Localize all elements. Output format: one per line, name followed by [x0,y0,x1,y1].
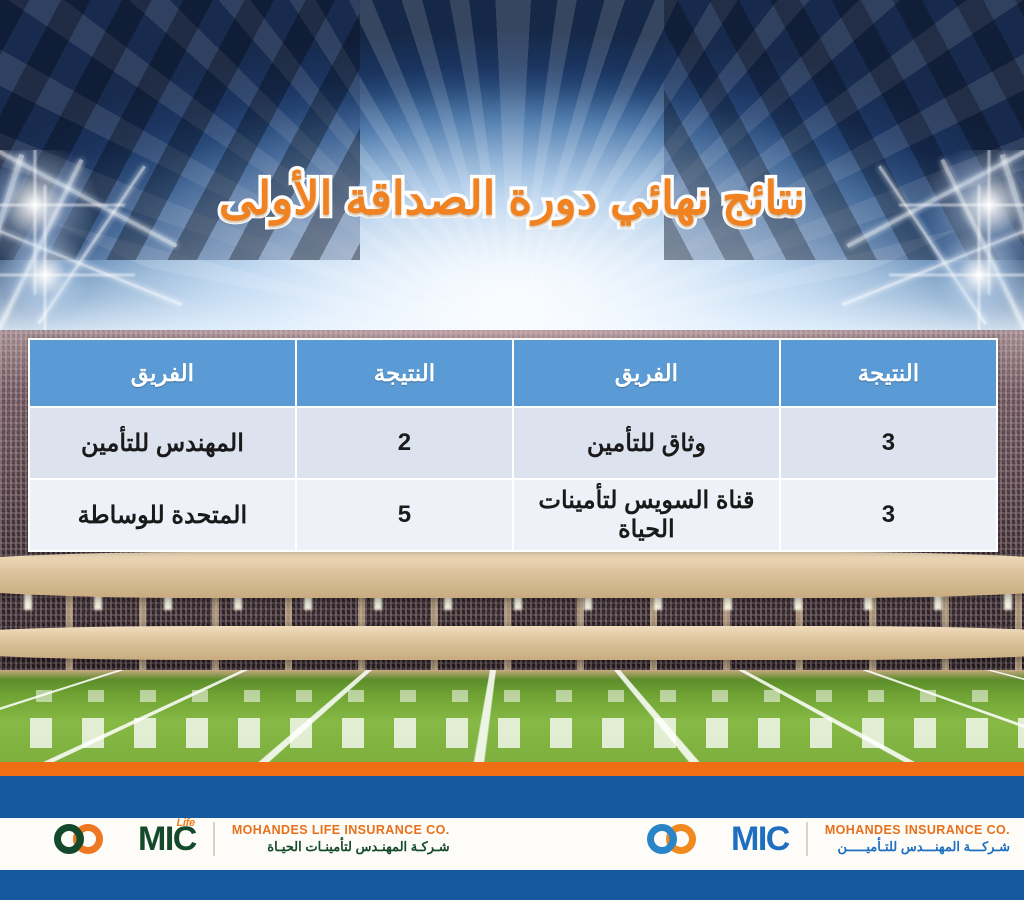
logo-mohandes-life[interactable]: MIC Life MOHANDES LIFE INSURANCE CO. شـر… [52,822,450,856]
logo-text-block: MOHANDES INSURANCE CO. شـركـــة المهنـــ… [825,823,1010,855]
cell-team-right: وثاق للتأمين [514,408,779,478]
cell-team-right: قناة السويس لتأمينات الحياة [514,480,779,550]
mic-life-mark: MIC Life [52,822,196,856]
table-header: النتيجة الفريق النتيجة الفريق [30,340,996,406]
footer-blue-band-bottom [0,870,1024,900]
floodlight-flare-left-2 [0,230,90,320]
poster-canvas: نتائج نهائي دورة الصداقة الأولى النتيجة … [0,0,1024,900]
column-header-team-left: الفريق [30,340,295,406]
cell-score-right: 3 [781,408,996,478]
footer-orange-stripe [0,762,1024,776]
mic-mark: MIC [645,822,789,856]
field-hash-marks-upper [0,690,1024,702]
cell-score-right: 3 [781,480,996,550]
company-name-en: MOHANDES LIFE INSURANCE CO. [232,823,450,839]
cell-team-left: المتحدة للوساطة [30,480,295,550]
sky-background [0,0,1024,330]
cell-score-left: 5 [297,480,512,550]
cell-score-left: 2 [297,408,512,478]
field-hash-marks-lower [0,718,1024,748]
stadium-rail-upper [0,552,1024,598]
column-header-score-left: النتيجة [297,340,512,406]
logo-mohandes-insurance[interactable]: MIC MOHANDES INSURANCE CO. شـركـــة المه… [645,822,1010,856]
table-header-row: النتيجة الفريق النتيجة الفريق [30,340,996,406]
footer-blue-band-top [0,776,1024,818]
company-name-ar: شـركـــة المهنـــدس للتـأميـــــن [825,839,1010,855]
column-header-score-right: النتيجة [781,340,996,406]
stadium-rail-lower [0,626,1024,660]
infinity-rings-icon [645,822,731,856]
table-body: 3 وثاق للتأمين 2 المهندس للتأمين 3 قناة … [30,408,996,550]
logo-text-block: MOHANDES LIFE INSURANCE CO. شـركـة المهن… [232,823,450,855]
logo-divider [806,822,808,856]
results-table: النتيجة الفريق النتيجة الفريق 3 وثاق للت… [28,338,998,552]
company-name-en: MOHANDES INSURANCE CO. [825,823,1010,839]
table-row: 3 وثاق للتأمين 2 المهندس للتأمين [30,408,996,478]
footer-logo-strip: MIC Life MOHANDES LIFE INSURANCE CO. شـر… [0,818,1024,870]
page-title: نتائج نهائي دورة الصداقة الأولى [0,170,1024,228]
mic-wordmark: MIC [731,822,789,856]
table-row: 3 قناة السويس لتأمينات الحياة 5 المتحدة … [30,480,996,550]
floodlight-flare-right-2 [934,230,1024,320]
life-superscript: Life [176,817,194,829]
logo-divider [213,822,215,856]
column-header-team-right: الفريق [514,340,779,406]
company-name-ar: شـركـة المهنـدس لتأمينـات الحيـاة [232,839,450,855]
infinity-rings-icon [52,822,138,856]
football-field [0,670,1024,765]
cell-team-left: المهندس للتأمين [30,408,295,478]
